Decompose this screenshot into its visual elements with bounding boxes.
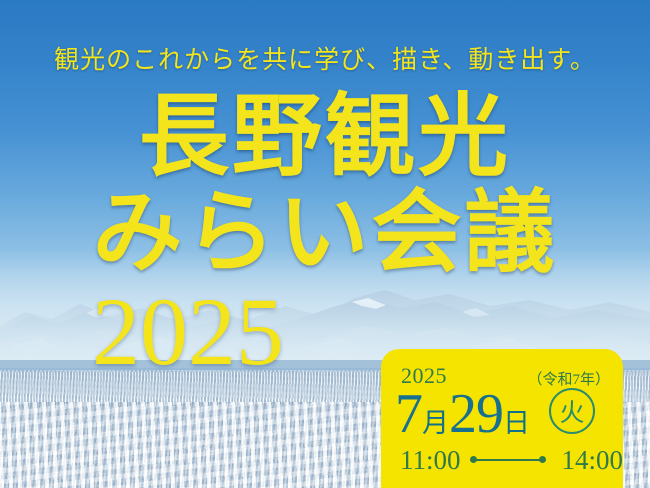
event-month-number: 7 bbox=[395, 383, 422, 445]
event-day-kanji: 日 bbox=[503, 408, 530, 438]
event-month-day: 7月29日 bbox=[395, 382, 530, 446]
event-day-number: 29 bbox=[449, 383, 503, 445]
date-card-time-row: 11:00 14:00 bbox=[381, 443, 623, 477]
date-card-main-row: 7月29日 火 bbox=[381, 387, 623, 439]
event-end-time: 14:00 bbox=[561, 445, 623, 476]
title-line-1: 長野観光 bbox=[0, 90, 650, 185]
time-range-connector-icon bbox=[470, 454, 547, 466]
event-day-of-week-badge: 火 bbox=[549, 388, 595, 434]
time-range-line bbox=[474, 459, 543, 461]
time-range-end-dot bbox=[539, 456, 546, 463]
poster-tagline: 観光のこれからを共に学び、描き、動き出す。 bbox=[0, 40, 650, 76]
japanese-era-year: （令和7年） bbox=[527, 368, 610, 389]
title-line-2: みらい会議 bbox=[0, 185, 650, 282]
poster-title: 長野観光 みらい会議 2025 bbox=[0, 90, 650, 382]
event-start-time: 11:00 bbox=[400, 445, 461, 476]
event-date-card: 2025 （令和7年） 7月29日 火 11:00 14:00 bbox=[381, 349, 623, 488]
poster-canvas: 観光のこれからを共に学び、描き、動き出す。 長野観光 みらい会議 2025 20… bbox=[0, 0, 650, 488]
event-month-kanji: 月 bbox=[422, 408, 449, 438]
